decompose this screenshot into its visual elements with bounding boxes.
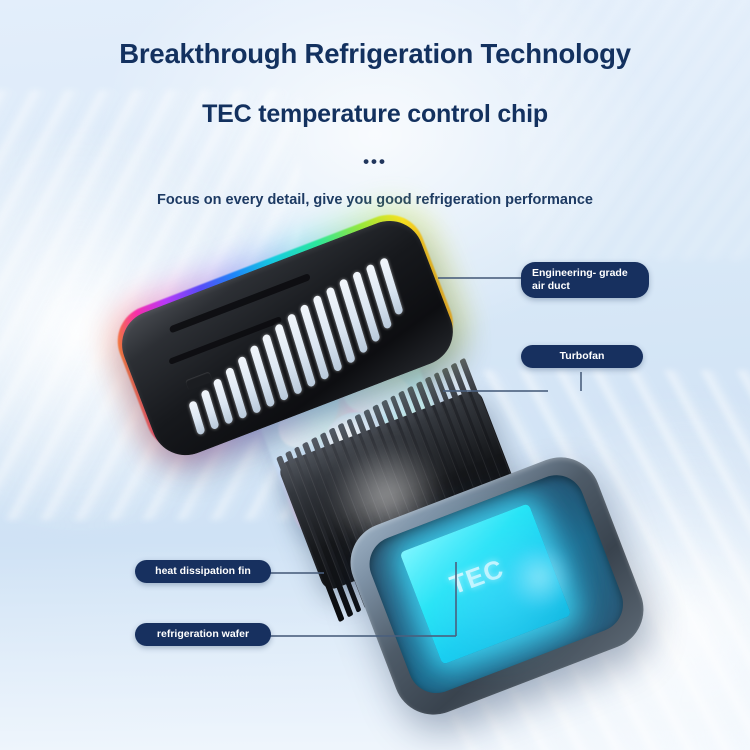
infographic-canvas: Breakthrough Refrigeration Technology TE…: [0, 0, 750, 750]
leader-line-air-duct: [438, 277, 524, 279]
callout-turbofan[interactable]: Turbofan: [521, 345, 643, 368]
callout-heat-fin[interactable]: heat dissipation fin: [135, 560, 271, 583]
leader-line-turbofan: [443, 390, 548, 392]
leader-elbow-refrig-wafer: [455, 562, 457, 636]
callout-refrig-wafer[interactable]: refrigeration wafer: [135, 623, 271, 646]
product-exploded-view: TEC: [0, 0, 750, 750]
leader-line-refrig-wafer: [258, 635, 456, 637]
callout-air-duct[interactable]: Engineering- grade air duct: [521, 262, 649, 298]
leader-stub-turbofan: [580, 372, 582, 391]
